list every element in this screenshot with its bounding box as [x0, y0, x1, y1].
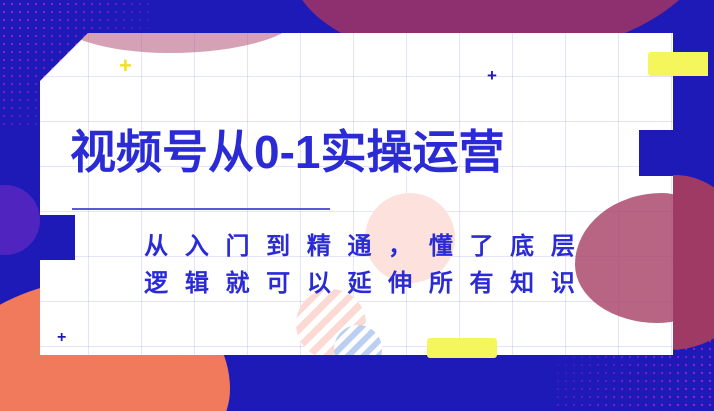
subtitle-line-2: 逻 辑 就 可 以 延 伸 所 有 知 识: [92, 265, 632, 302]
yellow-bar-bottom: [427, 338, 497, 358]
yellow-bar-right: [648, 52, 708, 76]
poster-headline: 视频号从0-1实操运营: [70, 128, 630, 176]
poster-canvas: + + + 视频号从0-1实操运营 从 入 门 到 精 通 ， 懂 了 底 层 …: [0, 0, 714, 411]
subtitle-line-1: 从 入 门 到 精 通 ， 懂 了 底 层: [92, 228, 632, 265]
blue-notch-right: [639, 130, 673, 176]
poster-subtitle: 从 入 门 到 精 通 ， 懂 了 底 层 逻 辑 就 可 以 延 伸 所 有 …: [92, 228, 632, 302]
blue-notch-left: [40, 215, 75, 260]
white-content-card: [40, 33, 673, 355]
plus-mark-blue-bottom-icon: +: [57, 330, 66, 346]
plus-mark-yellow-icon: +: [119, 55, 132, 77]
plus-mark-blue-top-icon: +: [487, 67, 497, 84]
headline-divider-rule: [72, 208, 330, 210]
